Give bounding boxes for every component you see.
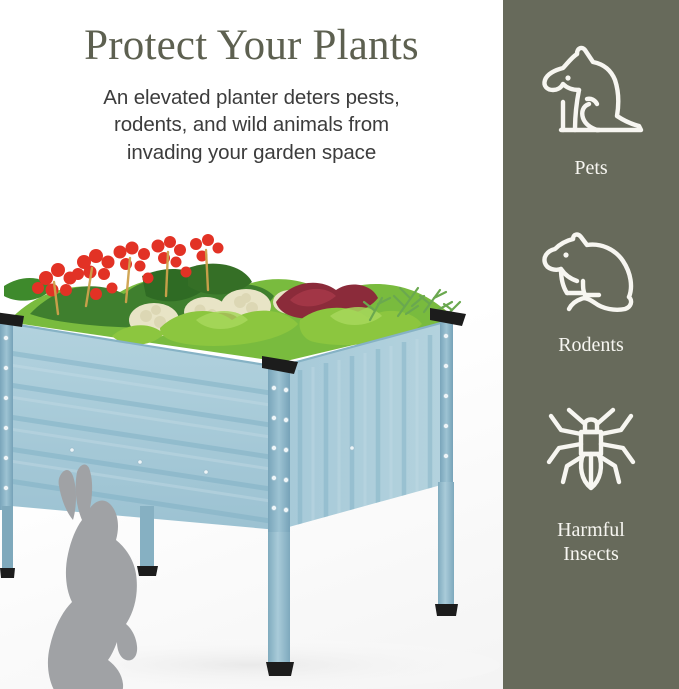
subtitle-line-3: invading your garden space xyxy=(36,139,467,166)
sidebar-label-pets: Pets xyxy=(574,156,607,181)
leg-front-center xyxy=(268,532,290,666)
insect-icon xyxy=(543,404,639,505)
sidebar-label-rodents: Rodents xyxy=(558,333,624,358)
leg-mid xyxy=(140,506,154,568)
leg-foot-mid xyxy=(137,566,158,576)
benefits-sidebar: Pets Rodents xyxy=(503,0,679,689)
sidebar-item-rodents[interactable]: Rodents xyxy=(503,229,679,358)
leg-foot-rear-right xyxy=(435,604,458,616)
insects-label-line1: Harmful xyxy=(557,519,625,541)
leg-rear-right xyxy=(438,482,454,608)
sidebar-label-insects: Harmful Insects xyxy=(557,518,625,568)
product-marketing-image: Protect Your Plants An elevated planter … xyxy=(0,0,679,689)
left-content-pane: Protect Your Plants An elevated planter … xyxy=(0,0,503,689)
page-title: Protect Your Plants xyxy=(0,24,503,69)
insects-label-line2: Insects xyxy=(557,542,625,567)
leg-rear-left xyxy=(2,506,13,572)
subtitle-line-2: rodents, and wild animals from xyxy=(36,111,467,138)
leg-foot-front-center xyxy=(266,662,294,676)
subtitle-line-1: An elevated planter deters pests, xyxy=(36,84,467,111)
rodent-icon xyxy=(539,229,643,320)
page-subtitle: An elevated planter deters pests, rodent… xyxy=(36,84,467,166)
corner-post-left xyxy=(0,318,13,510)
corner-post-right xyxy=(440,316,453,486)
sidebar-item-pets[interactable]: Pets xyxy=(503,42,679,181)
sidebar-item-insects[interactable]: Harmful Insects xyxy=(503,404,679,568)
product-photo xyxy=(0,210,503,689)
leg-foot-rear-left xyxy=(0,568,15,578)
dog-icon xyxy=(537,42,645,143)
